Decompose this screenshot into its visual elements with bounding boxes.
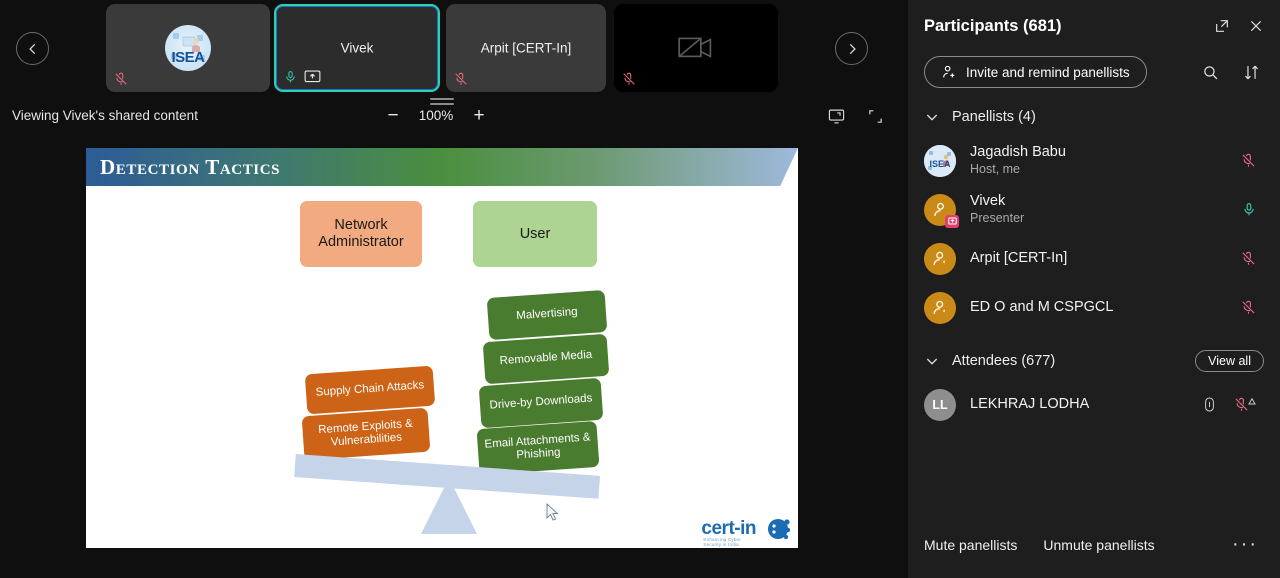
isea-logo-text: ISEA bbox=[165, 49, 211, 66]
participant-status bbox=[1242, 201, 1264, 218]
mic-muted-icon[interactable] bbox=[1241, 299, 1256, 316]
chevron-left-icon bbox=[26, 42, 40, 56]
svg-text:ISEA: ISEA bbox=[929, 159, 951, 169]
panel-tool-icons bbox=[1202, 64, 1264, 81]
person-icon bbox=[931, 249, 950, 268]
slide-box-user: User bbox=[473, 201, 597, 267]
slide-tag-remote-exploits-vulnerabilities: Remote Exploits & Vulnerabilities bbox=[302, 408, 431, 461]
screen-share-badge-icon bbox=[945, 215, 959, 228]
filmstrip-next-button[interactable] bbox=[835, 32, 868, 65]
tile-name-label: Arpit [CERT-In] bbox=[446, 41, 606, 56]
avatar bbox=[924, 243, 956, 275]
search-icon[interactable] bbox=[1202, 64, 1219, 81]
participant-status bbox=[1241, 250, 1264, 267]
invite-button-label: Invite and remind panellists bbox=[966, 65, 1130, 80]
slide-tag-email-attachments-phishing: Email Attachments & Phishing bbox=[477, 421, 600, 475]
avatar-initials: LL bbox=[932, 398, 947, 412]
unmute-panellists-button[interactable]: Unmute panellists bbox=[1043, 537, 1154, 553]
section-header-attendees[interactable]: Attendees (677) View all bbox=[908, 342, 1280, 380]
video-tile-vivek[interactable]: Vivek bbox=[274, 4, 440, 92]
meeting-window: ISEA Vivek bbox=[0, 0, 1280, 578]
participant-info: LEKHRAJ LODHA bbox=[970, 395, 1089, 413]
avatar: LL bbox=[924, 389, 956, 421]
mute-panellists-button[interactable]: Mute panellists bbox=[924, 537, 1017, 553]
mic-muted-request-wrap bbox=[1234, 396, 1256, 413]
pop-out-share-icon[interactable] bbox=[828, 108, 845, 125]
participant-name: ED O and M CSPGCL bbox=[970, 298, 1113, 316]
video-tile-isea[interactable]: ISEA bbox=[106, 4, 270, 92]
view-all-button[interactable]: View all bbox=[1195, 350, 1264, 372]
video-tile-arpit[interactable]: Arpit [CERT-In] bbox=[446, 4, 606, 92]
mic-muted-icon[interactable] bbox=[1234, 396, 1249, 413]
raised-hand-icon[interactable] bbox=[1203, 396, 1216, 413]
zoom-controls: − 100% + bbox=[385, 106, 487, 125]
mouse-cursor-icon bbox=[546, 503, 560, 523]
participant-row-arpit[interactable]: Arpit [CERT-In] bbox=[908, 234, 1280, 283]
slide-tag-supply-chain-attacks: Supply Chain Attacks bbox=[305, 366, 435, 415]
mic-muted-icon[interactable] bbox=[1241, 250, 1256, 267]
avatar bbox=[924, 194, 956, 226]
stage-area: ISEA Vivek bbox=[0, 0, 908, 578]
participant-name: Jagadish Babu bbox=[970, 143, 1066, 161]
zoom-level-value: 100% bbox=[417, 108, 455, 123]
slide-tag-removable-media: Removable Media bbox=[483, 334, 610, 385]
participant-row-ed-o-and-m-cspgcl[interactable]: ED O and M CSPGCL bbox=[908, 283, 1280, 332]
slide-tag-malvertising: Malvertising bbox=[487, 290, 608, 340]
fullscreen-icon[interactable] bbox=[867, 108, 884, 125]
avatar: ISEA bbox=[165, 25, 211, 71]
slide-box-network-administrator: Network Administrator bbox=[300, 201, 422, 267]
tile-badges bbox=[284, 69, 321, 85]
participant-row-jagadish[interactable]: ISEA Jagadish Babu Host, me bbox=[908, 136, 1280, 185]
tile-badges bbox=[622, 71, 636, 87]
screen-share-icon bbox=[304, 70, 321, 84]
shared-slide[interactable]: Detection Tactics Network Administrator … bbox=[86, 148, 798, 548]
filmstrip-prev-button[interactable] bbox=[16, 32, 49, 65]
participant-row-lekhraj-lodha[interactable]: LL LEKHRAJ LODHA bbox=[908, 380, 1280, 429]
participant-status bbox=[1241, 152, 1264, 169]
participant-name: Vivek bbox=[970, 192, 1024, 210]
zoom-in-button[interactable]: + bbox=[471, 106, 487, 125]
panel-footer: Mute panellists Unmute panellists ··· bbox=[908, 533, 1280, 556]
participant-status bbox=[1203, 396, 1264, 413]
sort-icon[interactable] bbox=[1243, 64, 1260, 81]
avatar: ISEA bbox=[924, 145, 956, 177]
panel-header: Participants (681) bbox=[908, 6, 1280, 46]
certin-logo-tagline: Enhancing Cyber Security in India bbox=[703, 537, 756, 547]
share-status-label: Viewing Vivek's shared content bbox=[12, 108, 198, 123]
more-options-button[interactable]: ··· bbox=[1232, 533, 1264, 556]
participant-role: Host, me bbox=[970, 161, 1066, 177]
seesaw-fulcrum bbox=[421, 478, 477, 534]
mic-muted-icon bbox=[454, 71, 468, 87]
video-tile-camera-off[interactable] bbox=[614, 4, 778, 92]
participant-row-vivek[interactable]: Vivek Presenter bbox=[908, 185, 1280, 234]
share-view-tools bbox=[828, 108, 884, 125]
section-label-attendees: Attendees (677) bbox=[952, 353, 1055, 369]
participant-info: Arpit [CERT-In] bbox=[970, 249, 1067, 267]
isea-logo-icon: ISEA bbox=[924, 145, 956, 177]
tile-badges bbox=[454, 71, 468, 87]
open-in-new-window-icon[interactable] bbox=[1214, 18, 1230, 34]
participant-status bbox=[1241, 299, 1264, 316]
mic-request-badge-icon bbox=[1248, 398, 1256, 407]
section-header-panellists[interactable]: Panellists (4) bbox=[908, 98, 1280, 136]
tile-badges bbox=[114, 71, 128, 87]
close-icon[interactable] bbox=[1248, 18, 1264, 34]
certin-network-icon bbox=[760, 518, 790, 540]
zoom-out-button[interactable]: − bbox=[385, 106, 401, 125]
panel-tools-row: Invite and remind panellists bbox=[908, 56, 1280, 88]
tile-name-label: Vivek bbox=[276, 41, 438, 56]
participant-info: Jagadish Babu Host, me bbox=[970, 143, 1066, 177]
section-label-panellists: Panellists (4) bbox=[952, 109, 1036, 125]
participant-name: Arpit [CERT-In] bbox=[970, 249, 1067, 267]
mic-muted-icon[interactable] bbox=[1241, 152, 1256, 169]
participant-role: Presenter bbox=[970, 210, 1024, 226]
slide-title: Detection Tactics bbox=[100, 155, 280, 180]
chevron-down-icon bbox=[924, 109, 940, 125]
invite-and-remind-panellists-button[interactable]: Invite and remind panellists bbox=[924, 56, 1147, 88]
add-person-icon bbox=[941, 64, 957, 80]
share-toolbar: Viewing Vivek's shared content − 100% + bbox=[0, 96, 908, 141]
panel-header-actions bbox=[1214, 18, 1264, 34]
participant-info: ED O and M CSPGCL bbox=[970, 298, 1113, 316]
participant-filmstrip: ISEA Vivek bbox=[0, 0, 908, 96]
person-icon bbox=[931, 298, 950, 317]
avatar bbox=[924, 292, 956, 324]
chevron-right-icon bbox=[845, 42, 859, 56]
camera-off-icon bbox=[678, 34, 714, 62]
participant-name: LEKHRAJ LODHA bbox=[970, 395, 1089, 413]
mic-muted-icon bbox=[622, 71, 636, 87]
panel-title: Participants (681) bbox=[924, 17, 1214, 36]
participant-info: Vivek Presenter bbox=[970, 192, 1024, 226]
certin-logo: cert-in Enhancing Cyber Security in Indi… bbox=[701, 518, 790, 540]
participants-panel: Participants (681) Invite and remind pan… bbox=[908, 0, 1280, 578]
mic-muted-icon bbox=[114, 71, 128, 87]
mic-on-icon bbox=[284, 69, 297, 85]
mic-on-icon[interactable] bbox=[1242, 201, 1256, 218]
chevron-down-icon bbox=[924, 353, 940, 369]
